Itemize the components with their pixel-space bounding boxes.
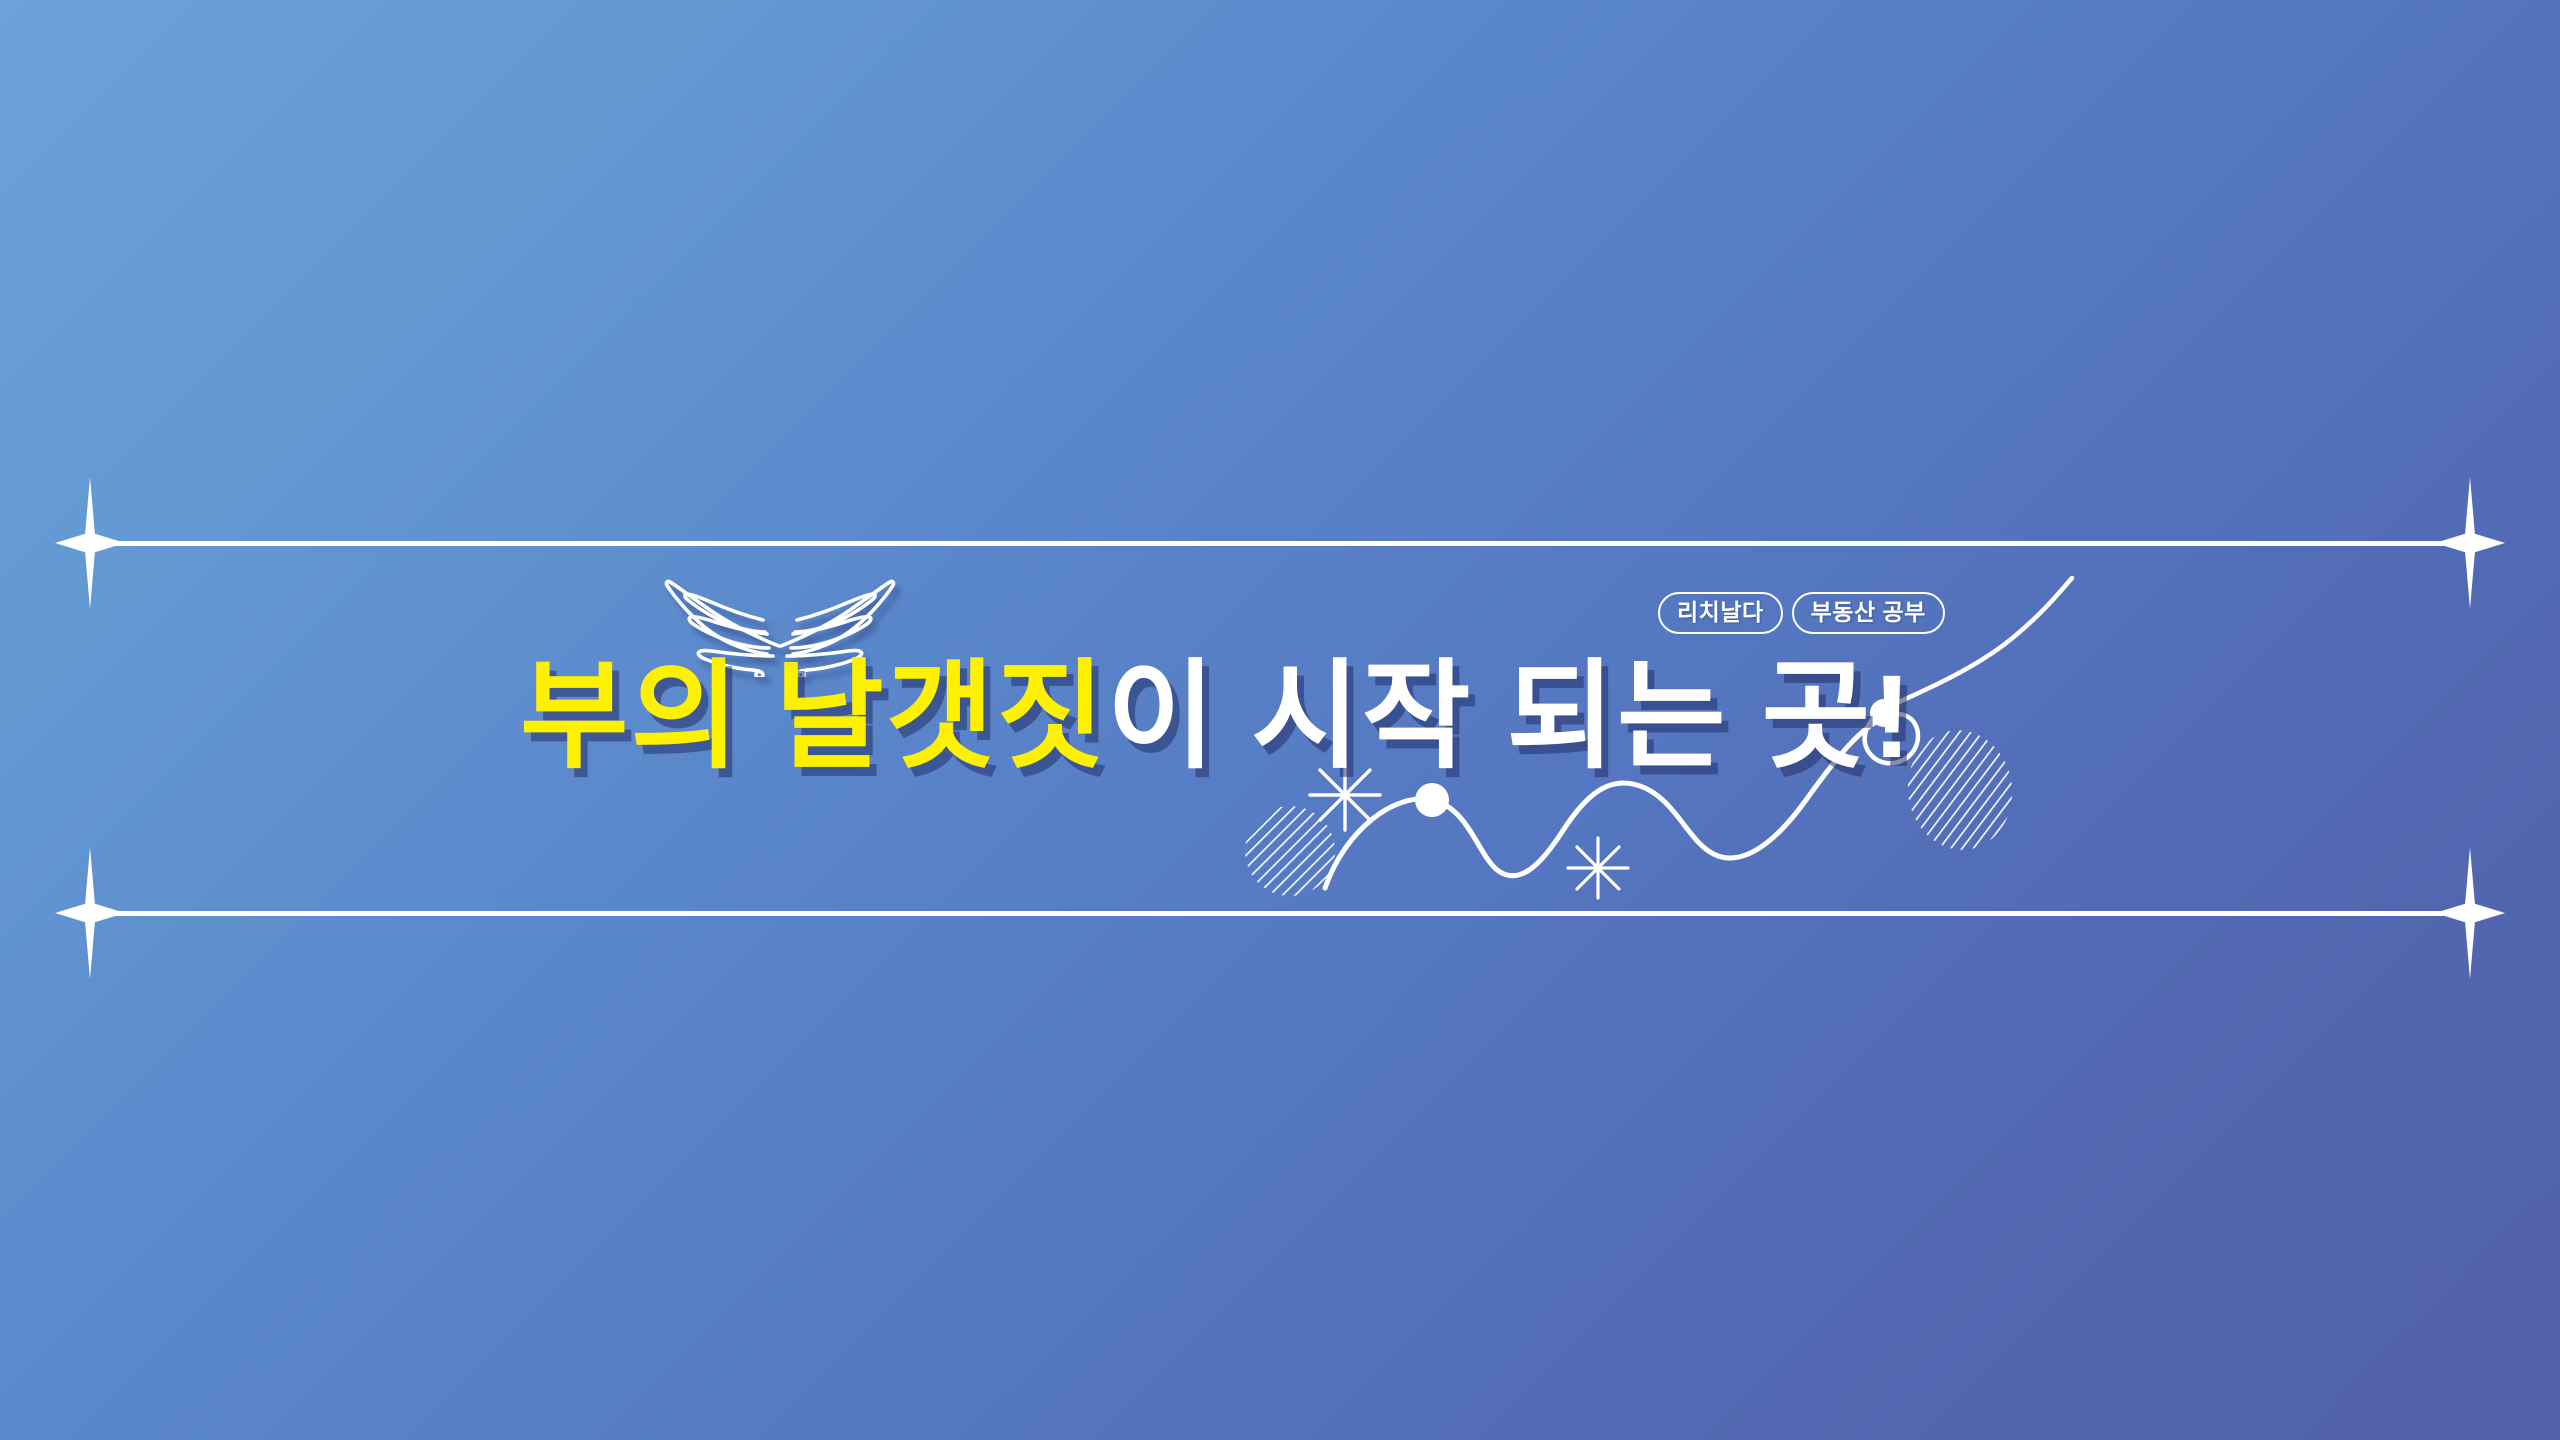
badge-row: 리치날다 부동산 공부	[1658, 592, 1945, 634]
sparkle-star-icon-bottom-right	[2435, 847, 2505, 979]
headline-segment-4: 시작	[1251, 658, 1472, 776]
headline: 부의 날갯짓 이 시작 되는 곳!	[520, 652, 2080, 782]
sparkle-star-icon-bottom-left	[55, 847, 125, 979]
divider-line-bottom	[90, 911, 2470, 916]
striped-circle-left	[1245, 806, 1335, 896]
headline-segment-5: 되는	[1507, 658, 1728, 776]
divider-line-top	[90, 541, 2470, 546]
headline-segment-6: 곳!	[1762, 658, 1914, 776]
headline-segment-3: 이	[1107, 658, 1218, 776]
headline-segment-2: 날갯짓	[775, 658, 1107, 776]
squiggle-dot-large	[1415, 783, 1449, 817]
sparkle-6pt-b	[1568, 838, 1628, 898]
sparkle-star-icon-top-left	[55, 477, 125, 609]
promo-banner: 리치날다 부동산 공부 부의 날갯짓 이 시작 되는 곳!	[0, 0, 2560, 1440]
badge-topic[interactable]: 부동산 공부	[1792, 592, 1945, 634]
headline-segment-1: 부의	[520, 658, 741, 776]
sparkle-star-icon-top-right	[2435, 477, 2505, 609]
badge-brand[interactable]: 리치날다	[1658, 592, 1783, 634]
